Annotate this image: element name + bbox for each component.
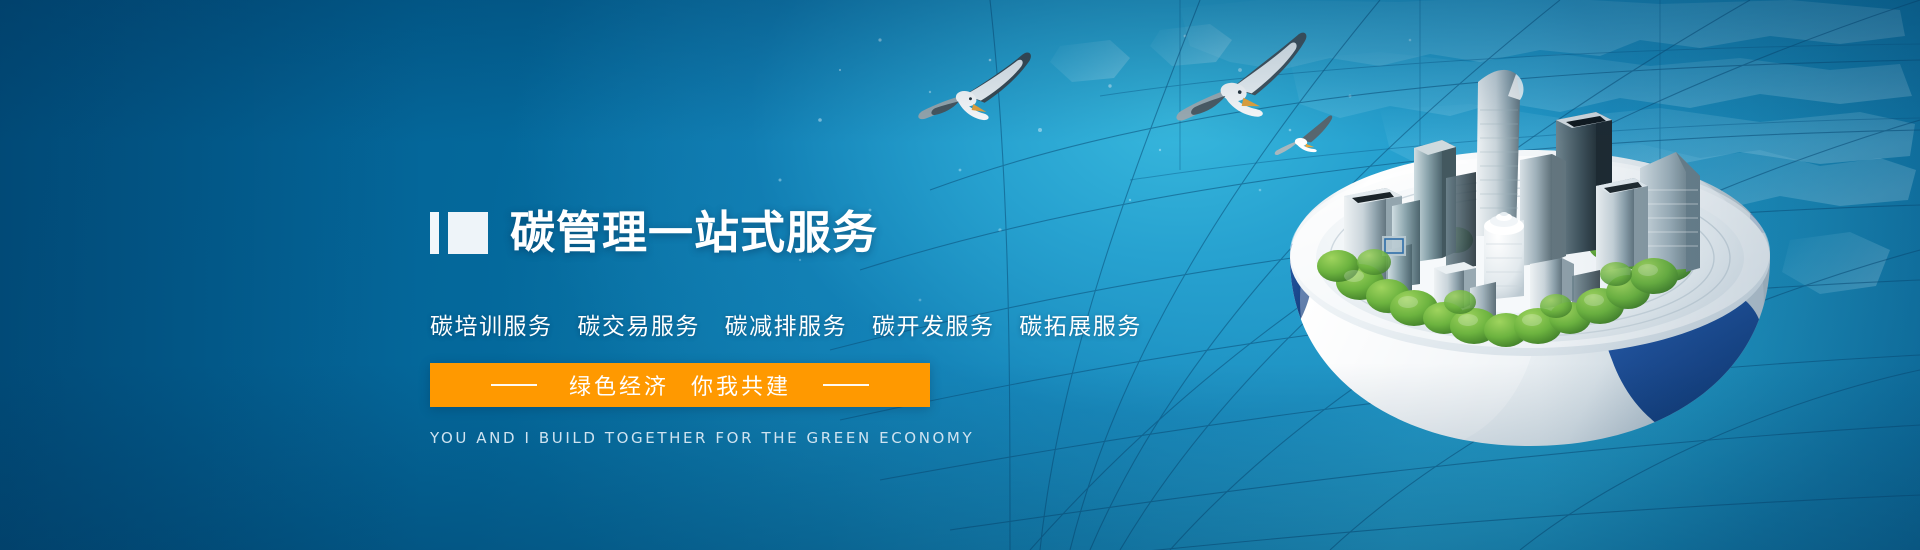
- page-title: 碳管理一站式服务: [510, 210, 878, 255]
- title-mark: [430, 212, 488, 254]
- service-item-1: 碳培训服务: [430, 314, 553, 340]
- english-tagline: YOU AND I BUILD TOGETHER FOR THE GREEN E…: [430, 429, 1190, 447]
- slogan-right: 你我共建: [685, 375, 797, 400]
- service-item-4: 碳开发服务: [872, 314, 995, 340]
- left-dash-icon: [491, 384, 537, 386]
- vertical-bar-icon: [430, 212, 439, 254]
- slogan-left: 绿色经济: [563, 375, 675, 400]
- banner-copy: 碳管理一站式服务 碳培训服务 碳交易服务 碳减排服务 碳开发服务 碳拓展服务 绿…: [430, 180, 1190, 447]
- slogan-bar: 绿色经济 你我共建: [430, 363, 930, 407]
- service-item-5: 碳拓展服务: [1019, 314, 1142, 340]
- right-dash-icon: [823, 384, 869, 386]
- service-item-3: 碳减排服务: [725, 314, 848, 340]
- filled-square-icon: [448, 212, 488, 254]
- title-row: 碳管理一站式服务: [430, 180, 1190, 285]
- slogan-text: 绿色经济 你我共建: [563, 369, 797, 401]
- service-list: 碳培训服务 碳交易服务 碳减排服务 碳开发服务 碳拓展服务: [430, 307, 1190, 341]
- hero-banner: 碳管理一站式服务 碳培训服务 碳交易服务 碳减排服务 碳开发服务 碳拓展服务 绿…: [0, 0, 1920, 550]
- service-item-2: 碳交易服务: [577, 314, 700, 340]
